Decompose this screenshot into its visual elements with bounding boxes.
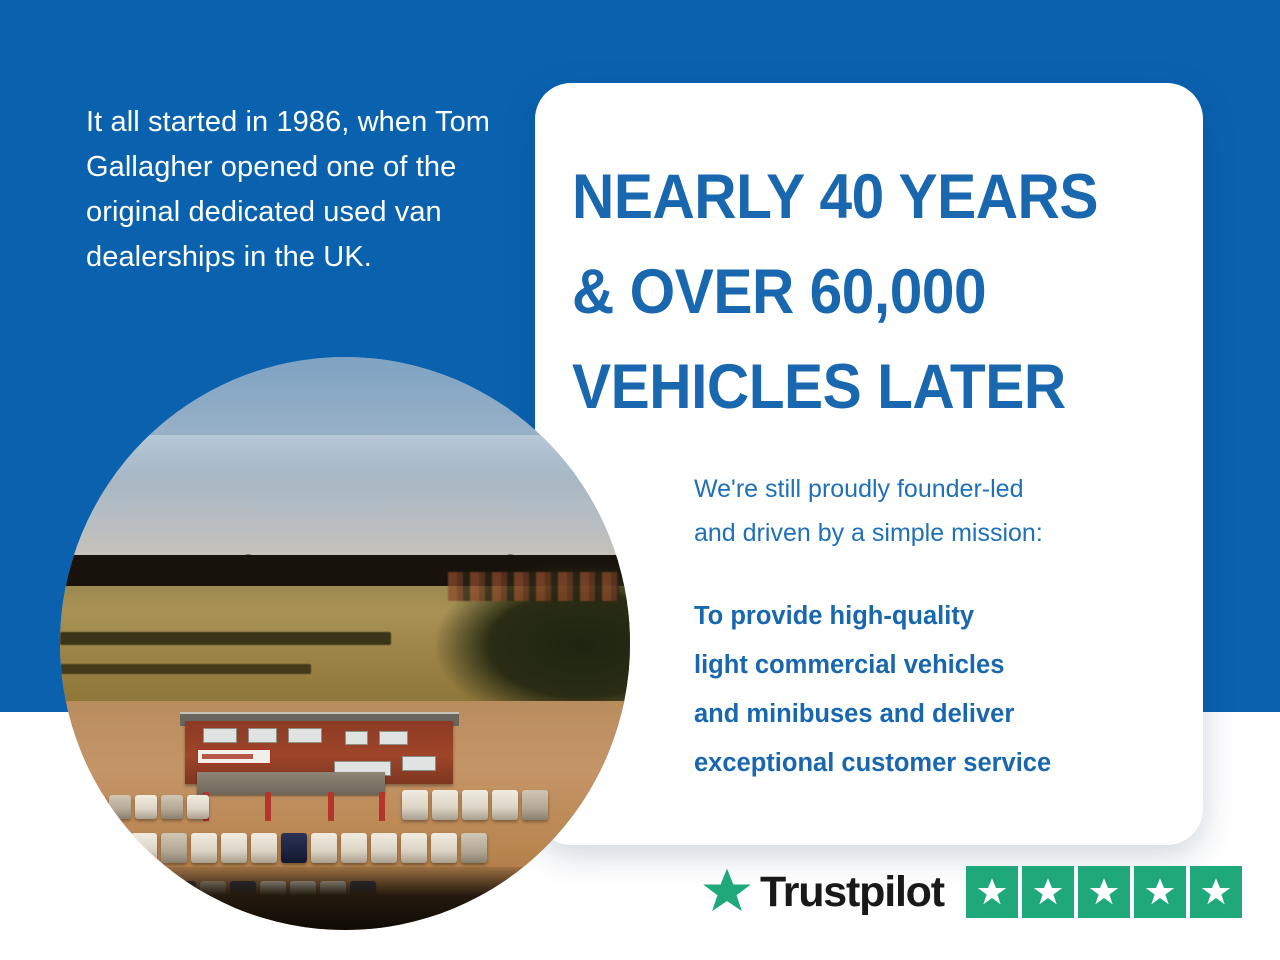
trustpilot-wordmark: Trustpilot [760,871,944,914]
trustpilot-star-rating[interactable] [966,866,1242,918]
rating-star-4 [1134,866,1186,918]
intro-paragraph: It all started in 1986, when Tom Gallagh… [86,100,506,280]
page-title: NEARLY 40 YEARS & OVER 60,000 VEHICLES L… [572,150,1149,435]
mission-statement: To provide high-quality light commercial… [694,592,1164,788]
dealership-photo [60,357,630,930]
rating-star-3 [1078,866,1130,918]
trustpilot-star-icon [700,866,754,918]
trustpilot-badge[interactable]: Trustpilot [700,866,1242,918]
promo-graphic: It all started in 1986, when Tom Gallagh… [0,0,1280,960]
rating-star-2 [1022,866,1074,918]
sub-copy: We're still proudly founder-led and driv… [694,467,1164,555]
trustpilot-brand[interactable]: Trustpilot [700,866,944,918]
rating-star-1 [966,866,1018,918]
rating-star-5 [1190,866,1242,918]
